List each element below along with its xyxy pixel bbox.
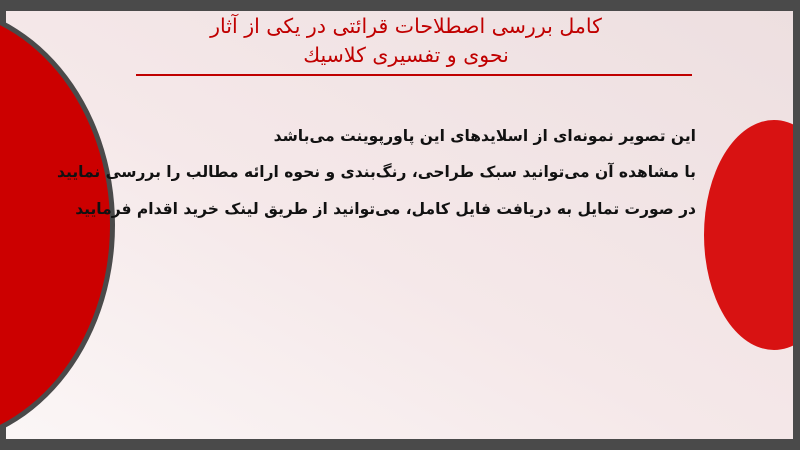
bottom-frame-strip <box>0 439 800 450</box>
title-underline-rule <box>136 74 692 76</box>
slide-body-block: این تصویر نمونه‌ای از اسلایدهای این پاور… <box>118 118 696 227</box>
right-frame-strip <box>793 0 800 450</box>
body-line-1: این تصویر نمونه‌ای از اسلایدهای این پاور… <box>118 118 696 154</box>
slide-title-block: کامل بررسی اصطلاحات قرائتی در یکی از آثا… <box>116 12 696 76</box>
presentation-slide: کامل بررسی اصطلاحات قرائتی در یکی از آثا… <box>0 0 800 450</box>
slide-title: کامل بررسی اصطلاحات قرائتی در یکی از آثا… <box>116 12 696 70</box>
top-frame-strip <box>0 0 800 11</box>
body-line-2: با مشاهده آن می‌توانید سبک طراحی، رنگ‌بن… <box>118 154 696 190</box>
body-line-3: در صورت تمایل به دریافت فایل کامل، می‌تو… <box>118 191 696 227</box>
